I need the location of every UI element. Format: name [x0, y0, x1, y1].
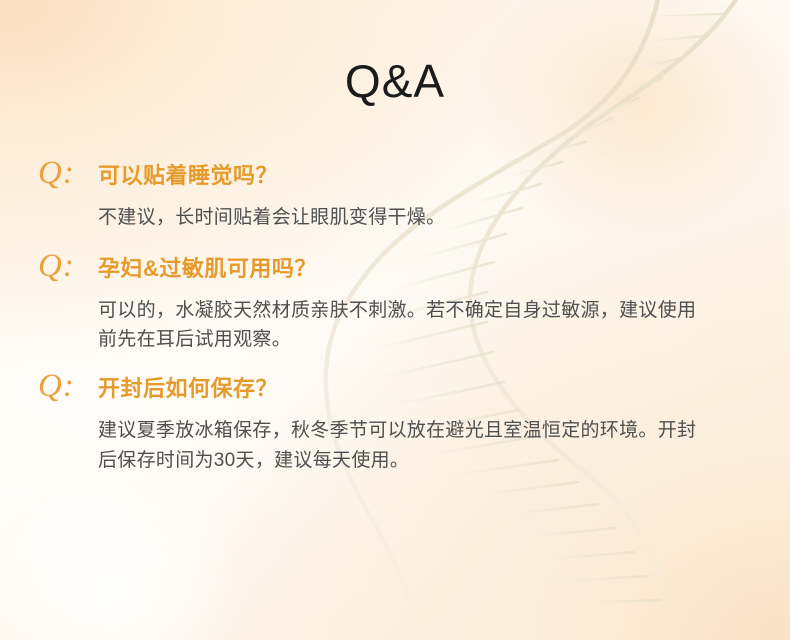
qa-item: Q: 开封后如何保存？ 建议夏季放冰箱保存，秋冬季节可以放在避光且室温恒定的环境… [0, 375, 790, 475]
question-marker-icon: Q: [38, 250, 75, 283]
page-content: Q&A Q: 可以贴着睡觉吗？ 不建议，长时间贴着会让眼肌变得干燥。 Q: 孕妇… [0, 0, 790, 640]
question-marker-icon: Q: [38, 157, 75, 190]
question-text: 可以贴着睡觉吗？ [98, 162, 790, 190]
qa-page: Q&A Q: 可以贴着睡觉吗？ 不建议，长时间贴着会让眼肌变得干燥。 Q: 孕妇… [0, 0, 790, 640]
qa-list: Q: 可以贴着睡觉吗？ 不建议，长时间贴着会让眼肌变得干燥。 Q: 孕妇&过敏肌… [0, 162, 790, 495]
question-marker-icon: Q: [38, 370, 75, 403]
page-title: Q&A [0, 58, 790, 104]
answer-text: 不建议，长时间贴着会让眼肌变得干燥。 [98, 203, 698, 233]
answer-text: 可以的，水凝胶天然材质亲肤不刺激。若不确定自身过敏源，建议使用前先在耳后试用观察… [98, 296, 698, 355]
question-text: 开封后如何保存？ [98, 375, 790, 403]
question-row: Q: 孕妇&过敏肌可用吗？ [42, 255, 790, 289]
question-row: Q: 可以贴着睡觉吗？ [42, 162, 790, 196]
qa-item: Q: 孕妇&过敏肌可用吗？ 可以的，水凝胶天然材质亲肤不刺激。若不确定自身过敏源… [0, 255, 790, 355]
qa-item: Q: 可以贴着睡觉吗？ 不建议，长时间贴着会让眼肌变得干燥。 [0, 162, 790, 233]
answer-text: 建议夏季放冰箱保存，秋冬季节可以放在避光且室温恒定的环境。开封后保存时间为30天… [98, 416, 698, 475]
question-text: 孕妇&过敏肌可用吗？ [98, 255, 790, 283]
question-row: Q: 开封后如何保存？ [42, 375, 790, 409]
